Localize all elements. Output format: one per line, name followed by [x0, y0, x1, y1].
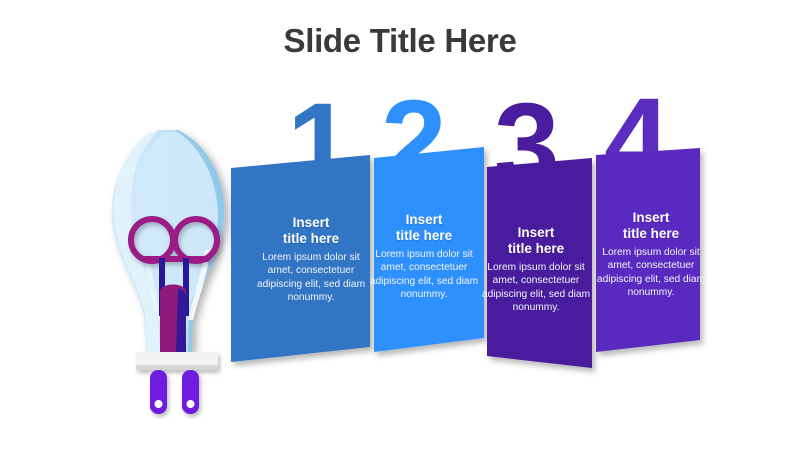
- infographic-stage: 1 2 3 4: [0, 0, 800, 450]
- slide-canvas: Slide Title Here 1 2 3 4: [0, 0, 800, 450]
- bulb-prongs-icon: [150, 370, 199, 414]
- bulb-base-icon: [136, 352, 218, 370]
- step-panel-4[interactable]: [596, 148, 700, 352]
- step-panel-2[interactable]: [374, 147, 484, 352]
- step-panel-1[interactable]: [231, 155, 370, 362]
- step-panel-3[interactable]: [487, 158, 592, 368]
